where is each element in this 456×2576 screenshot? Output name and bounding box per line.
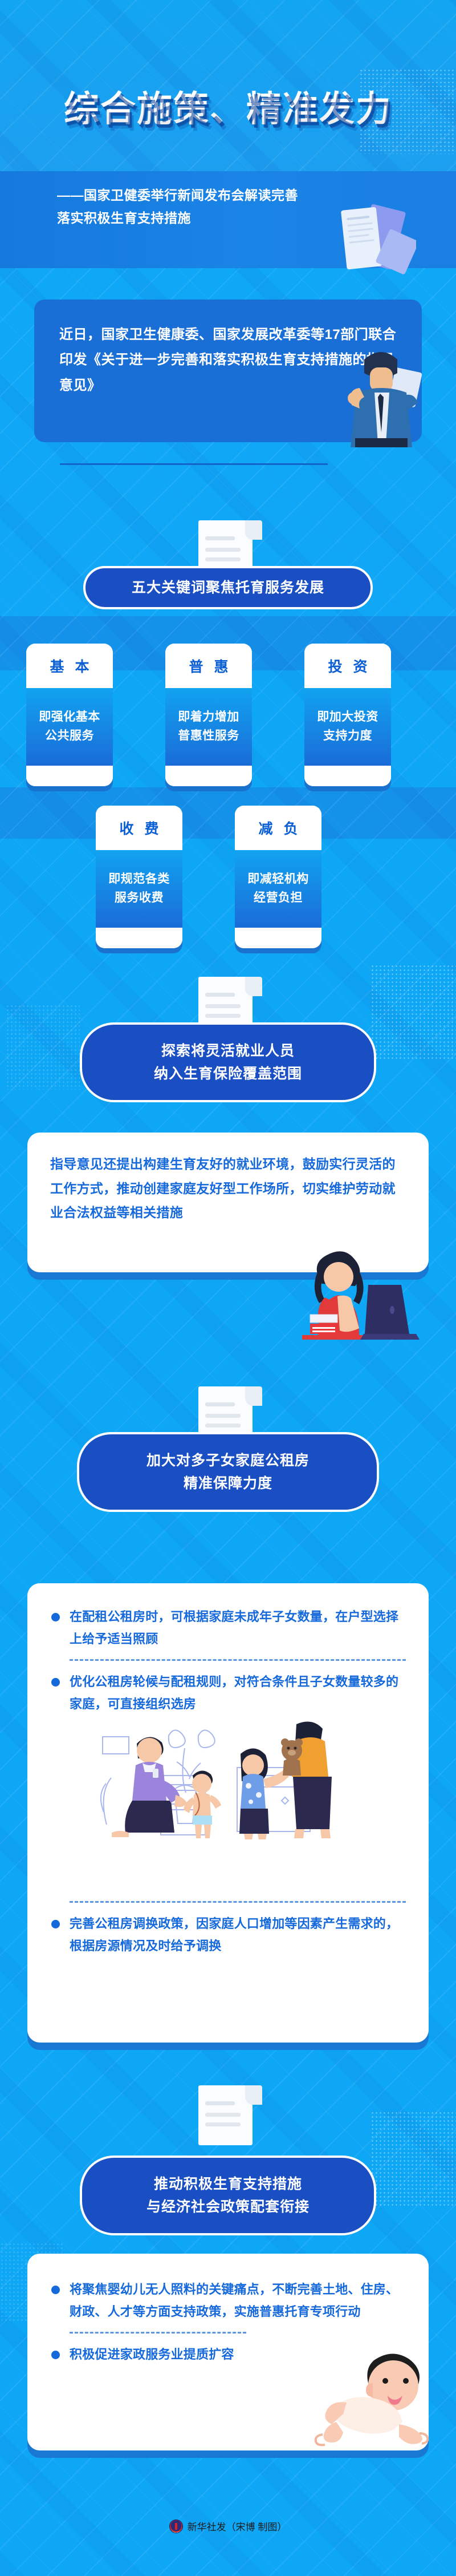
keyword-desc-line2: 服务收费 [115, 889, 164, 908]
page-title: 综合施策、精准发力 [0, 80, 456, 131]
list-item: 优化公租房轮候与配租规则，对符合条件且子女数量较多的家庭，可直接组织选房 [50, 1671, 406, 1715]
keyword-card-footer [235, 928, 321, 948]
keyword-card-puhui: 普 惠 即着力增加 普惠性服务 [165, 644, 252, 786]
keyword-desc-line1: 即着力增加 [178, 708, 239, 727]
list-item: 积极促进家政服务业提质扩容 [50, 2344, 267, 2366]
keyword-desc-line1: 即减轻机构 [247, 870, 309, 889]
keyword-card-jianfu: 减 负 即减轻机构 经营负担 [235, 806, 321, 948]
scroll-icon-policy [194, 2085, 262, 2145]
heading-tuoyu: 五大关键词聚焦托育服务发展 [83, 566, 373, 609]
keyword-desc-line1: 即强化基本 [39, 708, 100, 727]
keyword-body: 即减轻机构 经营负担 [235, 850, 321, 928]
background-dots-lower-right [370, 2111, 456, 2208]
keyword-body: 即强化基本 公共服务 [26, 688, 113, 766]
keyword-desc-line2: 经营负担 [254, 889, 303, 908]
keyword-desc-line2: 支持力度 [323, 727, 372, 746]
family-illustration [57, 1721, 399, 1892]
keyword-desc-line2: 普惠性服务 [178, 727, 239, 746]
heading-housing-line1: 加大对多子女家庭公租房 [146, 1449, 310, 1472]
keyword-title: 基 本 [26, 644, 113, 688]
dashed-separator [70, 1659, 406, 1661]
heading-employment-line2: 纳入生育保险覆盖范围 [154, 1062, 302, 1085]
heading-policy: 推动积极生育支持措施 与经济社会政策配套衔接 [80, 2156, 376, 2235]
xinhua-logo-icon [169, 2520, 183, 2533]
list-item: 在配租公租房时，可根据家庭未成年子女数量，在户型选择上给予适当照顾 [50, 1606, 406, 1650]
heading-policy-line2: 与经济社会政策配套衔接 [146, 2195, 310, 2218]
section-divider [60, 463, 328, 465]
keyword-body: 即规范各类 服务收费 [96, 850, 182, 928]
documents-illustration [331, 203, 416, 282]
keyword-card-shoufei: 收 费 即规范各类 服务收费 [96, 806, 182, 948]
keyword-body: 即加大投资 支持力度 [304, 688, 391, 766]
keyword-desc-line1: 即加大投资 [317, 708, 378, 727]
keyword-card-footer [304, 766, 391, 786]
background-dots-mid-right [370, 964, 456, 1061]
heading-employment: 探索将灵活就业人员 纳入生育保险覆盖范围 [80, 1022, 376, 1102]
keyword-desc-line1: 即规范各类 [108, 870, 170, 889]
employment-body-text: 指导意见还提出构建生育友好的就业环境，鼓励实行灵活的工作方式，推动创建家庭友好型… [50, 1152, 406, 1225]
keyword-title: 收 费 [96, 806, 182, 850]
housing-bullet-list: 在配租公租房时，可根据家庭未成年子女数量，在户型选择上给予适当照顾 优化公租房轮… [50, 1606, 406, 1715]
crawling-baby-illustration [302, 2348, 433, 2450]
dashed-separator [70, 2332, 246, 2334]
panel-housing: 在配租公租房时，可根据家庭未成年子女数量，在户型选择上给予适当照顾 优化公租房轮… [27, 1583, 429, 2043]
keyword-desc-line2: 公共服务 [45, 727, 94, 746]
background-dots-left [6, 1004, 80, 1090]
keyword-card-touzi: 投 资 即加大投资 支持力度 [304, 644, 391, 786]
list-item: 完善公租房调换政策，因家庭人口增加等因素产生需求的，根据房源情况及时给予调换 [50, 1913, 406, 1957]
keyword-card-footer [26, 766, 113, 786]
keyword-title: 减 负 [235, 806, 321, 850]
list-item: 将聚焦婴幼儿无人照料的关键痛点，不断完善土地、住房、财政、人才等方面支持政策，实… [50, 2279, 406, 2323]
keyword-card-footer [96, 928, 182, 948]
heading-housing: 加大对多子女家庭公租房 精准保障力度 [77, 1432, 379, 1512]
keyword-title: 普 惠 [165, 644, 252, 688]
keyword-title: 投 资 [304, 644, 391, 688]
footer-credit-text: 新华社发（宋博 制图） [188, 2519, 287, 2533]
heading-employment-line1: 探索将灵活就业人员 [161, 1040, 295, 1062]
dashed-separator [70, 1901, 406, 1903]
keyword-card-footer [165, 766, 252, 786]
housing-bullet-list-2: 完善公租房调换政策，因家庭人口增加等因素产生需求的，根据房源情况及时给予调换 [50, 1901, 406, 1957]
businessman-illustration [335, 325, 429, 468]
keyword-body: 即着力增加 普惠性服务 [165, 688, 252, 766]
keyword-card-jiben: 基 本 即强化基本 公共服务 [26, 644, 113, 786]
footer-credit: 新华社发（宋博 制图） [0, 2519, 456, 2533]
woman-with-laptop-illustration [268, 1249, 422, 1364]
heading-housing-line2: 精准保障力度 [184, 1472, 272, 1495]
infographic-page: 综合施策、精准发力 ——国家卫健委举行新闻发布会解读完善 落实积极生育支持措施 … [0, 0, 456, 2576]
heading-policy-line1: 推动积极生育支持措施 [154, 2173, 302, 2195]
